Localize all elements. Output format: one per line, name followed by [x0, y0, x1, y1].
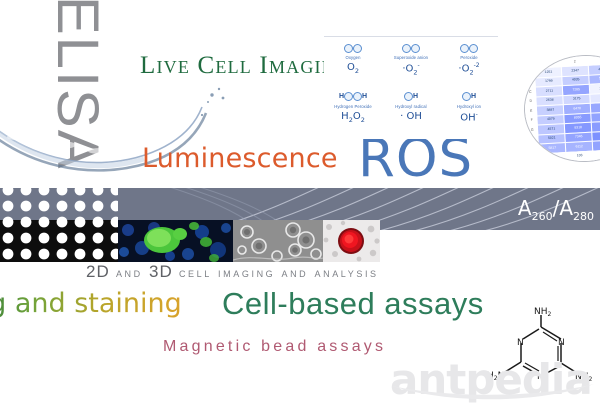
heatmap-cell: 7083	[590, 102, 600, 113]
ros-species-hydroxyl-ion: H Hydroxyl ion OH-	[440, 91, 498, 140]
ros-species-peroxide: Peroxide ·O2-2	[440, 42, 498, 91]
microplate-dot-array-top	[0, 188, 118, 222]
species-name: Peroxide	[460, 55, 477, 60]
ros-species-hydroxyl-radical: H Hydroxyl radical · OH	[382, 91, 440, 140]
staining-label: ng and staining	[0, 288, 182, 319]
row-header: J	[528, 153, 540, 163]
ros-chemistry-panel: Oxygen O2 Superoxide anion ·O2- Peroxide…	[324, 36, 498, 139]
dot-array-svg	[0, 220, 118, 262]
row-header: I	[527, 144, 539, 154]
imaging-analysis-line: 2D and 3D cell imaging and analysis	[86, 262, 379, 282]
ros-species-superoxide-anion: Superoxide anion ·O2-	[382, 42, 440, 91]
heatmap-cell: 8877	[592, 130, 600, 141]
ros-species-oxygen: Oxygen O2	[324, 42, 382, 91]
a260-subscript: 260	[532, 210, 553, 223]
dot-array-svg-top	[0, 188, 118, 222]
heatmap-cell: 97	[593, 149, 600, 160]
ros-species-grid: Oxygen O2 Superoxide anion ·O2- Peroxide…	[324, 37, 498, 139]
heatmap-cell: 5842	[589, 74, 600, 85]
species-formula: · OH	[400, 111, 422, 122]
cell-based-assays-label: Cell-based assays	[222, 286, 484, 322]
hydrogen-peroxide-molecule-icon: HH	[339, 91, 367, 103]
ring-nitrogen-left: N	[517, 338, 524, 348]
heatmap-cell: 7449	[591, 112, 600, 123]
phase-contrast-micrograph-image	[233, 220, 323, 262]
heatmap-cell: 4028	[588, 64, 600, 75]
microplate-dot-array-image	[0, 220, 118, 262]
heatmap-cell: 218	[539, 152, 566, 163]
superoxide-molecule-icon	[402, 42, 420, 54]
oxygen-molecule-icon	[344, 42, 362, 54]
species-formula: O2	[347, 62, 359, 75]
imaging-rest-label: cell imaging and analysis	[179, 265, 379, 280]
fluorescence-micrograph-image	[118, 220, 233, 262]
heatmap-cell: 7430	[592, 140, 600, 151]
a280-subscript: 280	[573, 210, 594, 223]
luminescence-label: Luminescence	[142, 143, 338, 174]
ring-nitrogen-right: N	[558, 338, 565, 348]
imaging-3d-label: 3D	[149, 262, 173, 281]
row-header: H	[527, 135, 539, 145]
amino-top: NH2	[534, 307, 552, 318]
heatmap-cell: 8002	[591, 121, 600, 132]
red-stained-spheroid-image	[323, 220, 380, 262]
species-name: Hydroxyl radical	[395, 104, 426, 109]
micrograph-strip	[0, 220, 380, 262]
imaging-2d-label: 2D	[86, 262, 110, 281]
ros-species-hydrogen-peroxide: HH Hydrogen Peroxide H2O2	[324, 91, 382, 140]
poster-canvas: ELISA Live Cell Imaging Luminescence ROS	[0, 0, 600, 417]
hydroxyl-radical-molecule-icon: H	[404, 91, 418, 103]
fluorescence-svg	[118, 220, 233, 262]
heatmap-cell: 2018	[590, 93, 600, 104]
species-name: Hydroxyl ion	[457, 104, 481, 109]
species-name: Hydrogen Peroxide	[334, 104, 372, 109]
magnetic-bead-assays-label: Magnetic bead assays	[163, 338, 386, 356]
species-formula: H2O2	[341, 111, 365, 124]
imaging-and-label-1: and	[116, 265, 143, 280]
species-formula: ·O2-	[402, 62, 419, 76]
microplate-body: A1251234740283761B1799403558424410C27117…	[523, 63, 600, 164]
species-formula: ·O2-2	[458, 62, 479, 76]
heatmap-cell: 1056	[589, 83, 600, 94]
spheroid-svg	[323, 220, 380, 262]
absorbance-ratio-label: A260/A280	[518, 196, 594, 223]
col-header: 3	[588, 55, 600, 66]
species-formula: OH-	[460, 111, 478, 123]
heatmap-cell: 103	[566, 151, 593, 162]
species-name: Oxygen	[345, 55, 360, 60]
live-cell-imaging-label: Live Cell Imaging	[140, 52, 350, 80]
watermark-swoosh	[388, 378, 598, 408]
microplate-table: 1 2 3 4 A1251234740283761B17994035584244…	[522, 53, 600, 164]
peroxide-molecule-icon	[460, 42, 478, 54]
microplate-heatmap: 1 2 3 4 A1251234740283761B17994035584244…	[521, 52, 600, 165]
row-header: A	[523, 69, 535, 79]
phase-contrast-svg	[233, 220, 323, 262]
col-header	[523, 59, 535, 69]
hydroxyl-ion-molecule-icon: H	[462, 91, 476, 103]
species-name: Superoxide anion	[394, 55, 428, 60]
